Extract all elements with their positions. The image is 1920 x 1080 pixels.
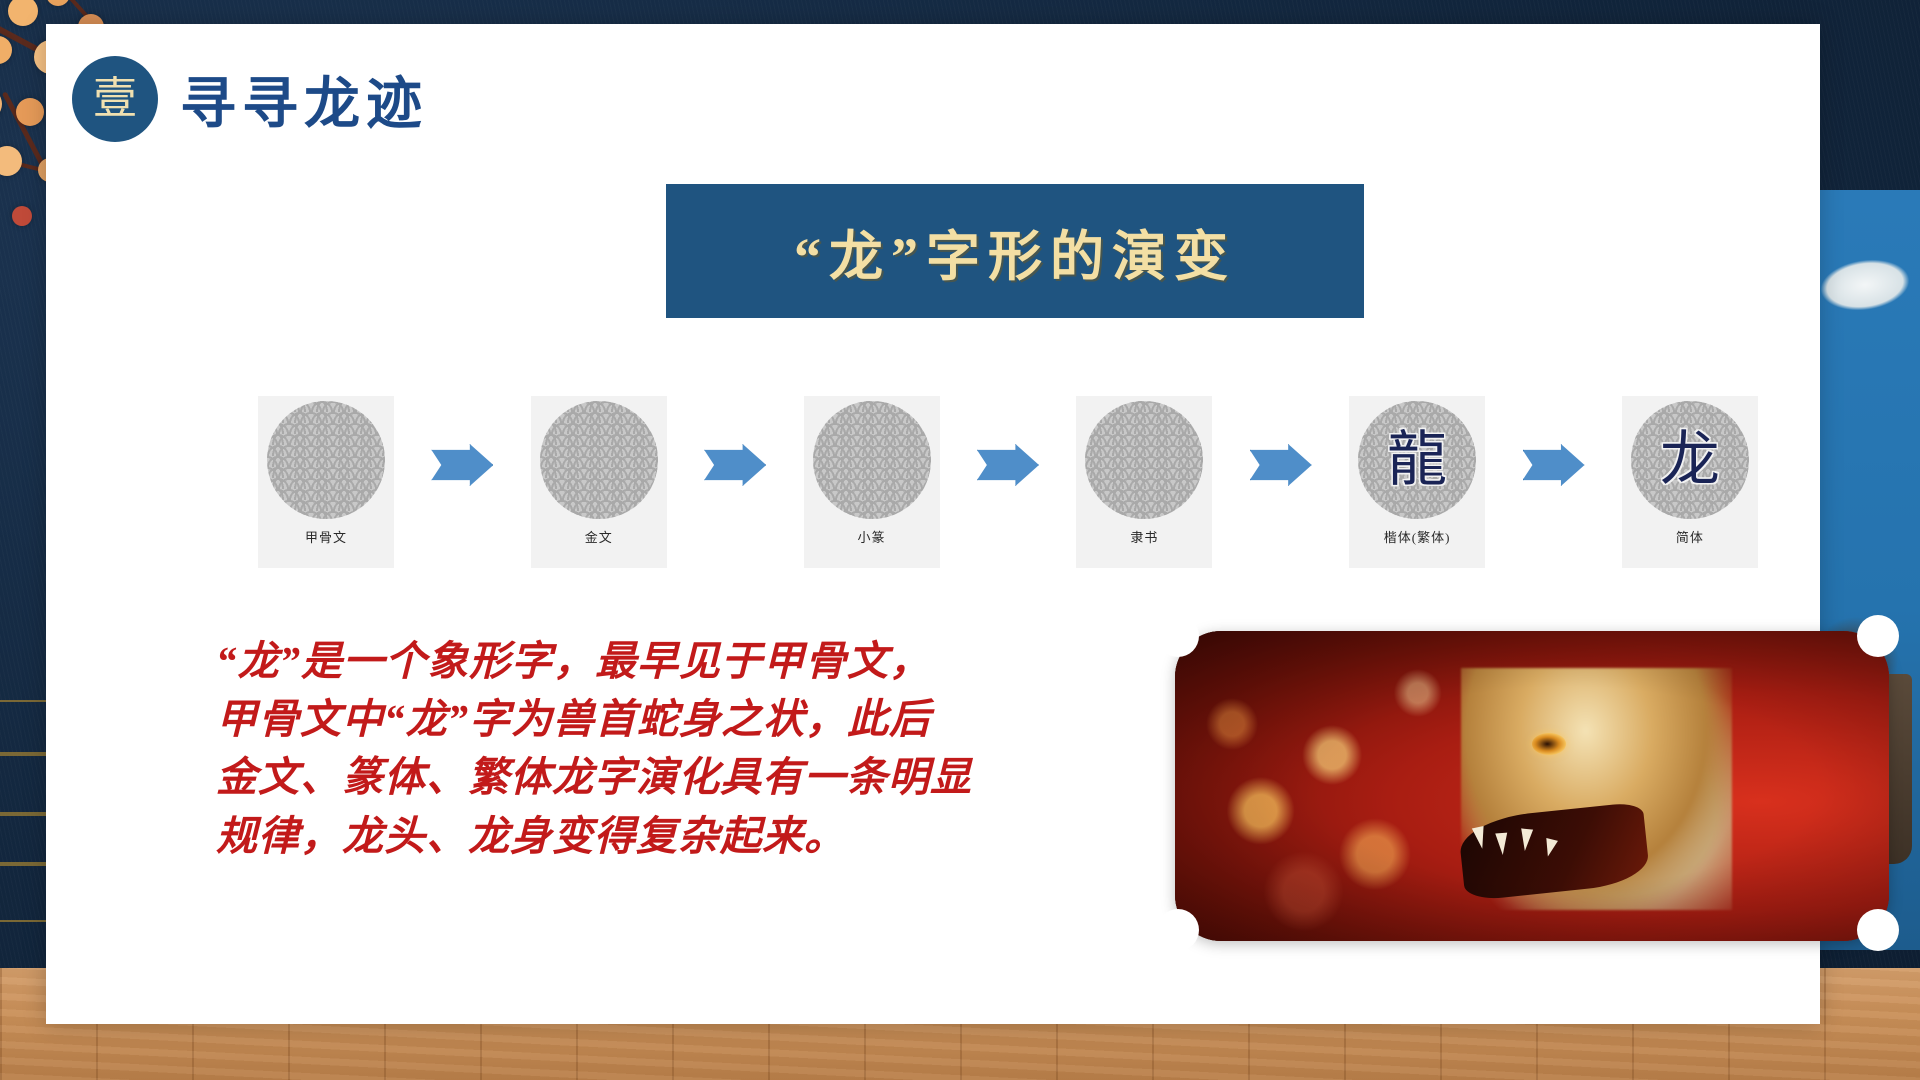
seigaiha-disc: 龙 (1631, 401, 1749, 519)
seigaiha-disc (1085, 401, 1203, 519)
glyph-card-clerical[interactable]: 隶书 (1076, 396, 1212, 568)
character-evolution-row: 甲骨文 金文 (258, 396, 1758, 571)
glyph-card-regular-traditional[interactable]: 龍 楷体(繁体) (1349, 396, 1485, 568)
section-number-badge: 壹 (72, 56, 158, 142)
title-banner: “龙”字形的演变 (666, 184, 1364, 318)
section-title: 寻寻龙迹 (180, 59, 428, 140)
glyph-label: 楷体(繁体) (1384, 527, 1451, 546)
slide-header: 壹 寻寻龙迹 (72, 56, 428, 142)
photo-vignette (1175, 631, 1889, 941)
photo-notch-top-left (1157, 615, 1199, 657)
slide-content-card: 壹 寻寻龙迹 “龙”字形的演变 甲骨 (46, 24, 1820, 1024)
glyph-label: 简体 (1676, 527, 1704, 546)
photo-notch-bottom-right (1857, 909, 1899, 951)
glyph-label: 甲骨文 (305, 527, 347, 546)
slide-root: 壹 寻寻龙迹 “龙”字形的演变 甲骨 (0, 0, 1920, 1080)
glyph-card-simplified[interactable]: 龙 简体 (1622, 396, 1758, 568)
seigaiha-disc (267, 401, 385, 519)
traditional-dragon-character: 龍 (1387, 430, 1447, 490)
seigaiha-disc (813, 401, 931, 519)
simplified-dragon-character: 龙 (1660, 430, 1720, 490)
body-line: 规律，龙头、龙身变得复杂起来。 (216, 807, 1116, 865)
clerical-script-dragon-glyph-icon (1092, 408, 1196, 512)
small-seal-dragon-glyph-icon (820, 408, 924, 512)
oracle-bone-dragon-glyph-icon (274, 408, 378, 512)
seigaiha-disc: 龍 (1358, 401, 1476, 519)
right-chevron-arrow-icon (1250, 444, 1312, 486)
glyph-label: 隶书 (1130, 527, 1158, 546)
glyph-card-oracle-bone[interactable]: 甲骨文 (258, 396, 394, 568)
glyph-card-bronze[interactable]: 金文 (531, 396, 667, 568)
seigaiha-disc (540, 401, 658, 519)
page-title: “龙”字形的演变 (794, 212, 1236, 291)
right-chevron-arrow-icon (977, 444, 1039, 486)
right-chevron-arrow-icon (704, 444, 766, 486)
body-line: “龙”是一个象形字，最早见于甲骨文， (216, 632, 1116, 690)
body-line: 金文、篆体、繁体龙字演化具有一条明显 (216, 748, 1116, 806)
body-paragraph: “龙”是一个象形字，最早见于甲骨文， 甲骨文中“龙”字为兽首蛇身之状，此后 金文… (216, 632, 1116, 865)
lily-flower-decoration (1817, 254, 1913, 316)
glyph-label: 小篆 (858, 527, 886, 546)
right-chevron-arrow-icon (431, 444, 493, 486)
right-chevron-arrow-icon (1523, 444, 1585, 486)
dragon-photo (1175, 631, 1889, 941)
body-line: 甲骨文中“龙”字为兽首蛇身之状，此后 (216, 690, 1116, 748)
bronze-script-dragon-glyph-icon (547, 408, 651, 512)
photo-notch-top-right (1857, 615, 1899, 657)
photo-notch-bottom-left (1157, 909, 1199, 951)
glyph-label: 金文 (585, 527, 613, 546)
glyph-card-small-seal[interactable]: 小篆 (804, 396, 940, 568)
